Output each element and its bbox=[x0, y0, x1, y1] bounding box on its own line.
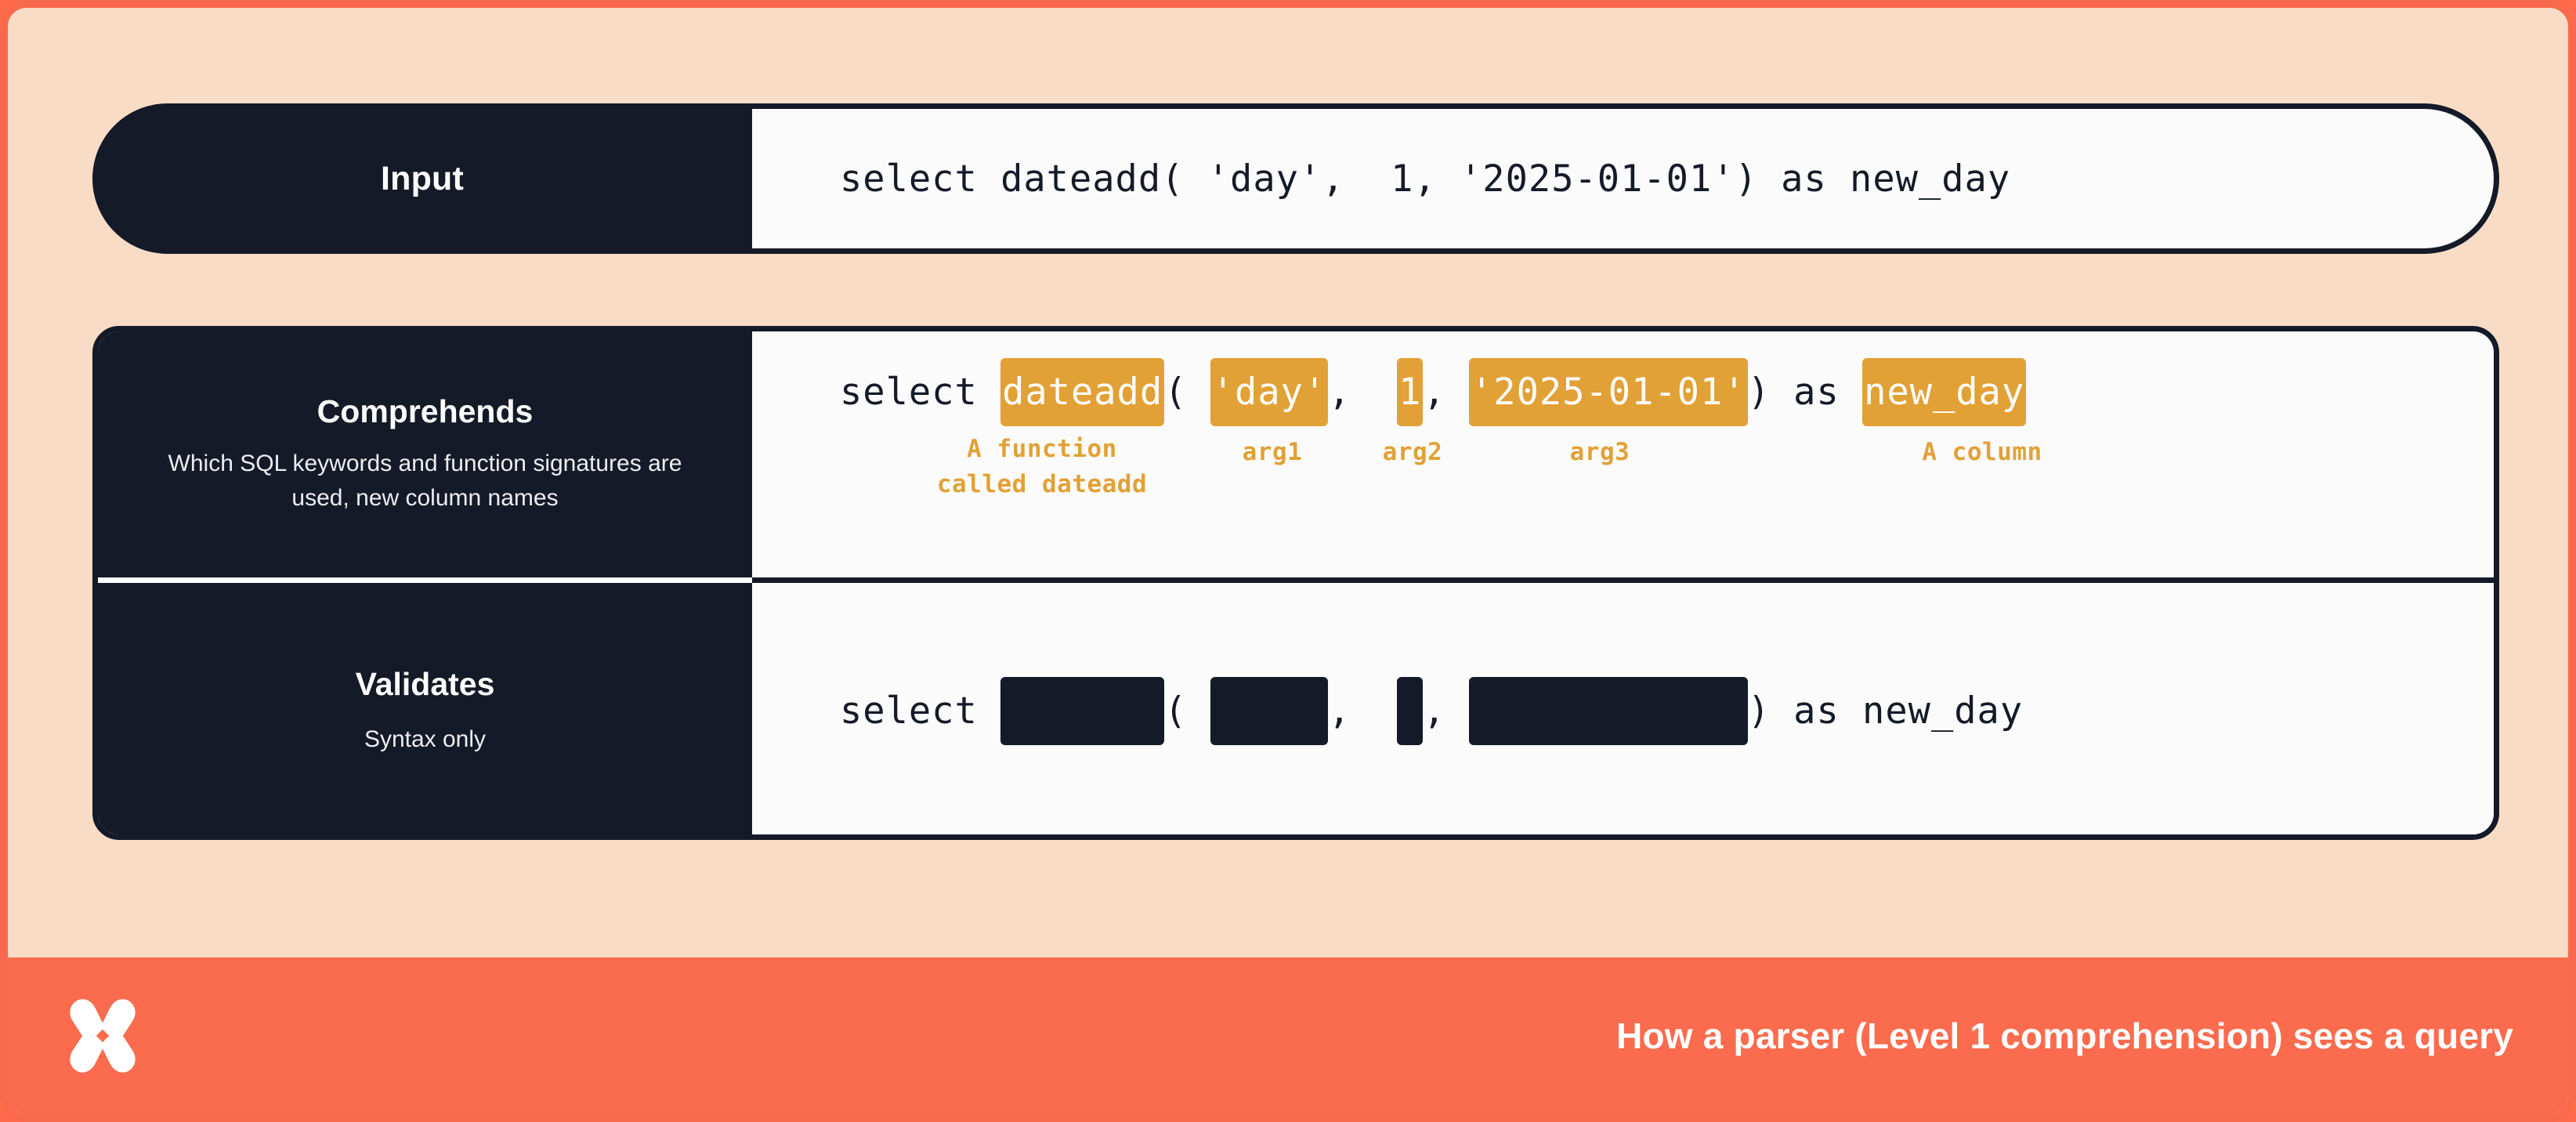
divider-left-segment bbox=[98, 577, 752, 583]
annotation-column: A column bbox=[1865, 435, 2100, 470]
footer-bar: How a parser (Level 1 comprehension) see… bbox=[8, 957, 2568, 1114]
code-token: '2025-01-01' bbox=[1469, 677, 1748, 745]
code-token: , bbox=[1423, 689, 1469, 733]
annotation-arg1: arg1 bbox=[1202, 435, 1343, 470]
input-row-label: Input bbox=[92, 103, 752, 254]
validates-title: Validates bbox=[356, 667, 495, 702]
comprehends-code-text: select dateadd( 'day', 1, '2025-01-01') … bbox=[840, 358, 2026, 426]
input-row: Input select dateadd( 'day', 1, '2025-01… bbox=[92, 103, 2499, 254]
comprehends-subtitle: Which SQL keywords and function signatur… bbox=[151, 447, 700, 515]
code-token: select bbox=[840, 371, 1000, 414]
validates-code-text: select dateadd( 'day', 1, '2025-01-01') … bbox=[840, 677, 2023, 745]
divider-right-segment bbox=[752, 577, 2494, 583]
code-token: , bbox=[1423, 371, 1469, 414]
content-area: Input select dateadd( 'day', 1, '2025-01… bbox=[8, 8, 2568, 973]
annotation-arg3: arg3 bbox=[1498, 435, 1702, 470]
comprehends-row: Comprehends Which SQL keywords and funct… bbox=[98, 331, 2494, 577]
code-token: dateadd bbox=[1000, 358, 1164, 426]
input-code-panel: select dateadd( 'day', 1, '2025-01-01') … bbox=[752, 103, 2499, 254]
code-token: 1 bbox=[1397, 677, 1423, 745]
x-star-logo-icon bbox=[56, 990, 149, 1082]
comprehends-body: select dateadd( 'day', 1, '2025-01-01') … bbox=[752, 331, 2494, 577]
code-token: new_day bbox=[1862, 358, 2026, 426]
code-token: select bbox=[840, 689, 1000, 733]
footer-caption: How a parser (Level 1 comprehension) see… bbox=[1616, 1015, 2513, 1057]
code-token: 'day' bbox=[1210, 358, 1328, 426]
annotation-arg2: arg2 bbox=[1354, 435, 1471, 470]
code-token: , bbox=[1328, 689, 1397, 733]
code-token: '2025-01-01' bbox=[1469, 358, 1748, 426]
annotation-function: A function called dateadd bbox=[901, 432, 1183, 502]
input-code-text: select dateadd( 'day', 1, '2025-01-01') … bbox=[840, 157, 2010, 201]
code-token: 1 bbox=[1397, 358, 1423, 426]
validates-body: select dateadd( 'day', 1, '2025-01-01') … bbox=[752, 583, 2494, 840]
validates-subtitle: Syntax only bbox=[364, 722, 486, 757]
code-token: ) as bbox=[1748, 371, 1862, 414]
comprehends-title: Comprehends bbox=[317, 394, 534, 429]
parser-stages-card: Comprehends Which SQL keywords and funct… bbox=[92, 326, 2499, 840]
row-divider bbox=[98, 577, 2494, 583]
code-token: 'day' bbox=[1210, 677, 1328, 745]
validates-label-cell: Validates Syntax only bbox=[98, 583, 752, 840]
comprehends-label-cell: Comprehends Which SQL keywords and funct… bbox=[98, 331, 752, 577]
code-token: ) as new_day bbox=[1748, 689, 2024, 733]
code-token: dateadd bbox=[1000, 677, 1164, 745]
infographic-card: Input select dateadd( 'day', 1, '2025-01… bbox=[0, 0, 2576, 1122]
validates-row: Validates Syntax only select dateadd( 'd… bbox=[98, 583, 2494, 840]
code-token: ( bbox=[1164, 689, 1210, 733]
code-token: ( bbox=[1164, 371, 1210, 414]
code-token: , bbox=[1328, 371, 1397, 414]
